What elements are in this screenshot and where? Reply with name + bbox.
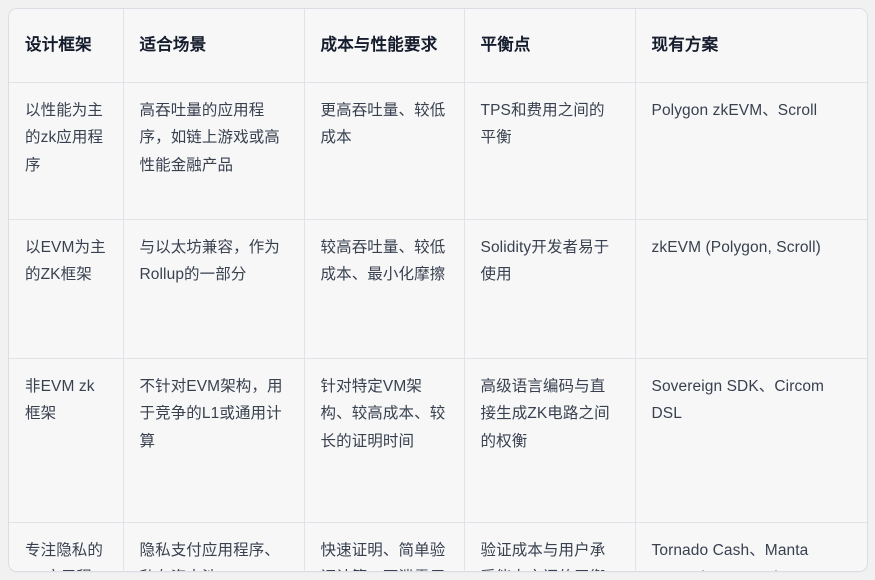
cell-text: Sovereign SDK、Circom DSL	[652, 373, 852, 428]
cell-text: 非EVM zk框架	[25, 373, 107, 428]
cell-suitable-scenario: 隐私支付应用程序、私有资本池	[123, 522, 304, 572]
cell-suitable-scenario: 不针对EVM架构，用于竞争的L1或通用计算	[123, 358, 304, 522]
cell-design-framework: 专注隐私的ZK应用程序	[9, 522, 123, 572]
cell-tradeoff: Solidity开发者易于使用	[464, 219, 635, 358]
cell-text: 以性能为主的zk应用程序	[25, 97, 107, 180]
cell-text: 不针对EVM架构，用于竞争的L1或通用计算	[140, 373, 288, 456]
cell-tradeoff: 验证成本与用户承受能力之间的平衡	[464, 522, 635, 572]
cell-text: TPS和费用之间的平衡	[481, 97, 619, 152]
cell-suitable-scenario: 高吞吐量的应用程序，如链上游戏或高性能金融产品	[123, 82, 304, 219]
page-container: 设计框架 适合场景 成本与性能要求 平衡点 现有方案	[0, 0, 875, 580]
table-body: 以性能为主的zk应用程序 高吞吐量的应用程序，如链上游戏或高性能金融产品 更高吞…	[9, 82, 867, 572]
table-row: 以性能为主的zk应用程序 高吞吐量的应用程序，如链上游戏或高性能金融产品 更高吞…	[9, 82, 867, 219]
cell-text: 高级语言编码与直接生成ZK电路之间的权衡	[481, 373, 619, 456]
table-header: 设计框架 适合场景 成本与性能要求 平衡点 现有方案	[9, 9, 867, 82]
cell-existing-solutions: zkEVM (Polygon, Scroll)	[635, 219, 867, 358]
cell-cost-performance-requirements: 更高吞吐量、较低成本	[304, 82, 464, 219]
table-row: 非EVM zk框架 不针对EVM架构，用于竞争的L1或通用计算 针对特定VM架构…	[9, 358, 867, 522]
column-header-tradeoff: 平衡点	[464, 9, 635, 82]
cell-text: zkEVM (Polygon, Scroll)	[652, 234, 852, 262]
column-header-suitable-scenario: 适合场景	[123, 9, 304, 82]
cell-text: 验证成本与用户承受能力之间的平衡	[481, 537, 619, 573]
cell-text: 以EVM为主的ZK框架	[25, 234, 107, 289]
column-header-cost-performance-requirements: 成本与性能要求	[304, 9, 464, 82]
cell-text: 快速证明、简单验证计算、不泄露用户信息	[321, 537, 448, 573]
column-header-label: 现有方案	[652, 33, 852, 58]
cell-existing-solutions: Tornado Cash、Manta Network、Penumbra、Azte…	[635, 522, 867, 572]
cell-tradeoff: TPS和费用之间的平衡	[464, 82, 635, 219]
comparison-table-container: 设计框架 适合场景 成本与性能要求 平衡点 现有方案	[8, 8, 868, 572]
column-header-label: 平衡点	[481, 33, 619, 58]
cell-cost-performance-requirements: 较高吞吐量、较低成本、最小化摩擦	[304, 219, 464, 358]
column-header-label: 成本与性能要求	[321, 33, 448, 58]
column-header-label: 适合场景	[140, 33, 288, 58]
cell-text: 专注隐私的ZK应用程序	[25, 537, 107, 573]
cell-text: 隐私支付应用程序、私有资本池	[140, 537, 288, 573]
table-row: 以EVM为主的ZK框架 与以太坊兼容，作为Rollup的一部分 较高吞吐量、较低…	[9, 219, 867, 358]
cell-existing-solutions: Sovereign SDK、Circom DSL	[635, 358, 867, 522]
cell-cost-performance-requirements: 针对特定VM架构、较高成本、较长的证明时间	[304, 358, 464, 522]
column-header-existing-solutions: 现有方案	[635, 9, 867, 82]
cell-tradeoff: 高级语言编码与直接生成ZK电路之间的权衡	[464, 358, 635, 522]
cell-text: 与以太坊兼容，作为Rollup的一部分	[140, 234, 288, 289]
column-header-design-framework: 设计框架	[9, 9, 123, 82]
cell-suitable-scenario: 与以太坊兼容，作为Rollup的一部分	[123, 219, 304, 358]
cell-text: Polygon zkEVM、Scroll	[652, 97, 852, 125]
cell-design-framework: 非EVM zk框架	[9, 358, 123, 522]
cell-text: 较高吞吐量、较低成本、最小化摩擦	[321, 234, 448, 289]
cell-design-framework: 以性能为主的zk应用程序	[9, 82, 123, 219]
cell-cost-performance-requirements: 快速证明、简单验证计算、不泄露用户信息	[304, 522, 464, 572]
cell-text: Solidity开发者易于使用	[481, 234, 619, 289]
cell-text: 针对特定VM架构、较高成本、较长的证明时间	[321, 373, 448, 456]
cell-text: 更高吞吐量、较低成本	[321, 97, 448, 152]
column-header-label: 设计框架	[25, 33, 107, 58]
table-header-row: 设计框架 适合场景 成本与性能要求 平衡点 现有方案	[9, 9, 867, 82]
cell-design-framework: 以EVM为主的ZK框架	[9, 219, 123, 358]
cell-existing-solutions: Polygon zkEVM、Scroll	[635, 82, 867, 219]
cell-text: Tornado Cash、Manta Network、Penumbra、Azte…	[652, 537, 852, 573]
table-row: 专注隐私的ZK应用程序 隐私支付应用程序、私有资本池 快速证明、简单验证计算、不…	[9, 522, 867, 572]
cell-text: 高吞吐量的应用程序，如链上游戏或高性能金融产品	[140, 97, 288, 180]
zk-framework-comparison-table: 设计框架 适合场景 成本与性能要求 平衡点 现有方案	[9, 9, 867, 572]
